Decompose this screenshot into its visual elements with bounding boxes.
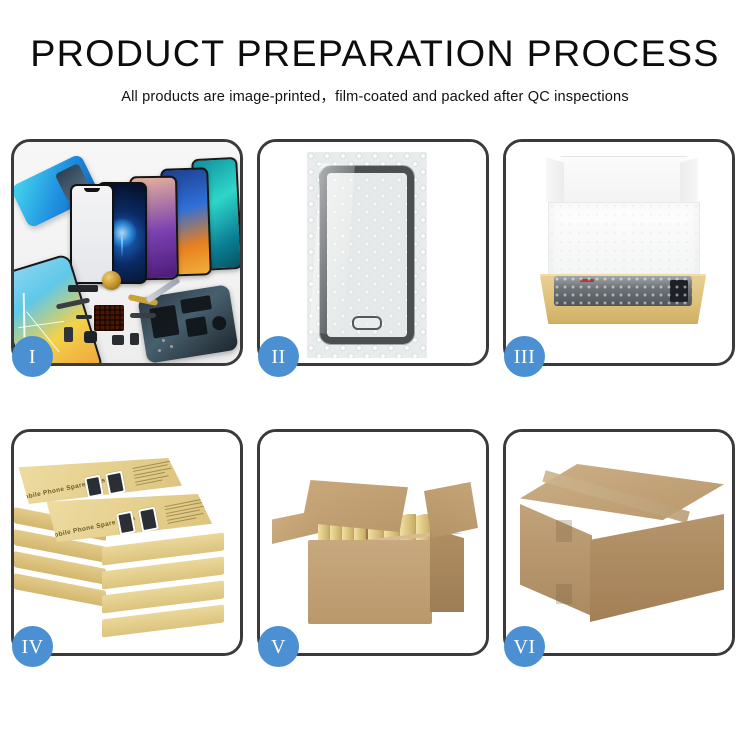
header: PRODUCT PREPARATION PROCESS All products… <box>0 0 750 106</box>
phone-screen-icon <box>320 166 414 344</box>
step-badge-6: VI <box>504 626 545 667</box>
page-subtitle: All products are image-printed，film-coat… <box>0 85 750 106</box>
step-6-image <box>506 432 732 653</box>
open-carton-icon <box>278 466 474 634</box>
product-preparation-infographic: PRODUCT PREPARATION PROCESS All products… <box>0 0 750 750</box>
step-badge-5: V <box>258 626 299 667</box>
step-panel-1: I <box>11 139 243 366</box>
step-panel-5: V <box>257 429 489 656</box>
home-button-icon <box>352 316 382 330</box>
sealed-carton-icon <box>520 464 724 624</box>
carton-left-flap-icon <box>272 510 318 544</box>
page-title: PRODUCT PREPARATION PROCESS <box>0 35 750 72</box>
carton-right-flap-icon <box>424 482 478 538</box>
bubble-wrap-icon <box>307 152 427 358</box>
step-5-image <box>260 432 486 653</box>
wrapped-screen-icon <box>554 276 692 306</box>
phone-lineup-icon <box>54 156 240 276</box>
step-4-image: Mobile Phone Spare Parts Mobile Phone Sp… <box>14 432 240 653</box>
process-steps-grid: I II <box>11 139 739 687</box>
stacked-boxes-icon: Mobile Phone Spare Parts Mobile Phone Sp… <box>14 452 226 642</box>
open-kraft-box-icon <box>536 156 708 334</box>
step-panel-4: Mobile Phone Spare Parts Mobile Phone Sp… <box>11 429 243 656</box>
step-panel-3: III <box>503 139 735 366</box>
step-badge-4: IV <box>12 626 53 667</box>
step-badge-2: II <box>258 336 299 377</box>
step-3-image <box>506 142 732 363</box>
step-2-image <box>260 142 486 363</box>
step-panel-2: II <box>257 139 489 366</box>
step-1-image <box>14 142 240 363</box>
spare-parts-cluster-icon <box>54 279 184 357</box>
step-badge-3: III <box>504 336 545 377</box>
step-panel-6: VI <box>503 429 735 656</box>
step-badge-1: I <box>12 336 53 377</box>
